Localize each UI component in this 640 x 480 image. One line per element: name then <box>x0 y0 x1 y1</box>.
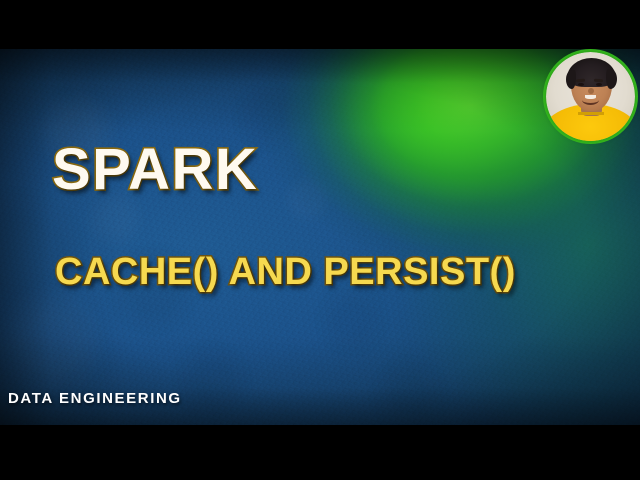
page-title: SPARK <box>52 141 258 199</box>
avatar <box>546 52 635 141</box>
letterbox-top <box>0 0 640 49</box>
channel-tag: DATA ENGINEERING <box>8 391 182 406</box>
avatar-smile <box>582 95 599 105</box>
avatar-nose <box>588 88 594 94</box>
page-subtitle: CACHE() AND PERSIST() <box>55 253 516 291</box>
avatar-collar <box>578 112 604 125</box>
letterbox-bottom <box>0 425 640 480</box>
video-thumbnail: SPARK CACHE() AND PERSIST() DATA ENGINEE… <box>0 0 640 480</box>
avatar-hair-left <box>566 70 576 89</box>
